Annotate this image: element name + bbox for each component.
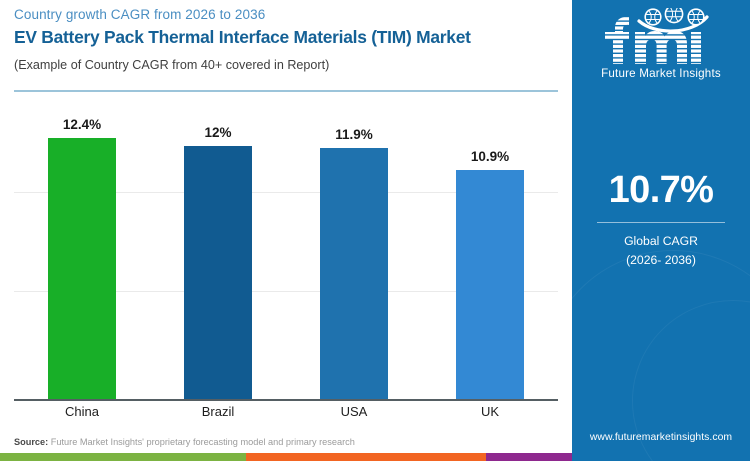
bar-series: 12.4%12%11.9%10.9% [14, 104, 558, 400]
cagr-divider [597, 222, 725, 223]
fmi-wordmark-icon [595, 8, 727, 66]
x-label-brazil: Brazil [150, 404, 286, 419]
chart-panel: Country growth CAGR from 2026 to 2036 EV… [0, 0, 572, 461]
website-url: www.futuremarketinsights.com [572, 432, 750, 443]
bar-china[interactable] [48, 138, 116, 400]
bottom-color-strip [0, 453, 572, 461]
bar-uk[interactable] [456, 170, 524, 400]
global-cagr-value: 10.7% [572, 168, 750, 212]
x-label-usa: USA [286, 404, 422, 419]
bar-group: 10.9% [422, 104, 558, 400]
bar-value-label: 12.4% [63, 117, 101, 132]
strip-segment [246, 453, 486, 461]
fmi-logo-subtitle: Future Market Insights [601, 67, 721, 80]
x-axis-tick-labels: ChinaBrazilUSAUK [14, 404, 558, 430]
source-text: Future Market Insights' proprietary fore… [51, 437, 355, 447]
bar-brazil[interactable] [184, 146, 252, 400]
global-cagr-block: 10.7% Global CAGR (2026- 2036) [572, 168, 750, 270]
bar-usa[interactable] [320, 148, 388, 400]
chart-header: Country growth CAGR from 2026 to 2036 EV… [14, 6, 562, 74]
source-note: Source: Future Market Insights' propriet… [14, 437, 355, 447]
header-divider [14, 90, 558, 92]
global-cagr-period: (2026- 2036) [572, 251, 750, 270]
page-title: EV Battery Pack Thermal Interface Materi… [14, 26, 562, 49]
brand-panel: Future Market Insights 10.7% Global CAGR… [572, 0, 750, 461]
bar-group: 11.9% [286, 104, 422, 400]
globe-icons [644, 8, 704, 26]
x-label-uk: UK [422, 404, 558, 419]
strip-segment [0, 453, 246, 461]
bar-value-label: 10.9% [471, 149, 509, 164]
bar-group: 12% [150, 104, 286, 400]
fmi-logo: Future Market Insights [572, 8, 750, 88]
strip-segment [486, 453, 572, 461]
source-label: Source: [14, 437, 48, 447]
bar-value-label: 11.9% [335, 127, 373, 142]
global-cagr-label: Global CAGR [572, 232, 750, 251]
bar-group: 12.4% [14, 104, 150, 400]
header-eyebrow: Country growth CAGR from 2026 to 2036 [14, 6, 562, 24]
x-label-china: China [14, 404, 150, 419]
header-subtitle: (Example of Country CAGR from 40+ covere… [14, 56, 562, 74]
fmi-logo-mark [595, 8, 727, 66]
x-axis-line [14, 399, 558, 401]
infographic-root: Country growth CAGR from 2026 to 2036 EV… [0, 0, 750, 461]
bar-value-label: 12% [204, 125, 231, 140]
